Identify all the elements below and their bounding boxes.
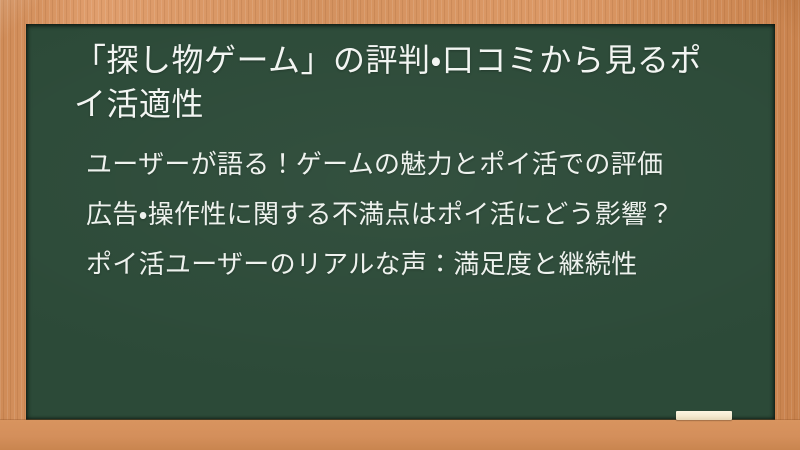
toc-item: ポイ活ユーザーのリアルな声：満足度と継続性 [86,246,730,282]
page-title: 「探し物ゲーム」の評判・口コミから見るポイ活適性 [74,38,730,126]
chalkboard-surface: 「探し物ゲーム」の評判・口コミから見るポイ活適性 ユーザーが語る！ゲームの魅力と… [26,24,775,420]
toc-item: 広告・操作性に関する不満点はポイ活にどう影響？ [86,196,730,232]
chalkboard-card: 「探し物ゲーム」の評判・口コミから見るポイ活適性 ユーザーが語る！ゲームの魅力と… [0,0,800,450]
table-of-contents: ユーザーが語る！ゲームの魅力とポイ活での評価 広告・操作性に関する不満点はポイ活… [74,146,730,282]
chalk-stick-icon [676,411,732,420]
chalk-ledge [0,420,800,450]
chalkboard-content: 「探し物ゲーム」の評判・口コミから見るポイ活適性 ユーザーが語る！ゲームの魅力と… [26,24,775,420]
toc-item: ユーザーが語る！ゲームの魅力とポイ活での評価 [86,146,730,182]
